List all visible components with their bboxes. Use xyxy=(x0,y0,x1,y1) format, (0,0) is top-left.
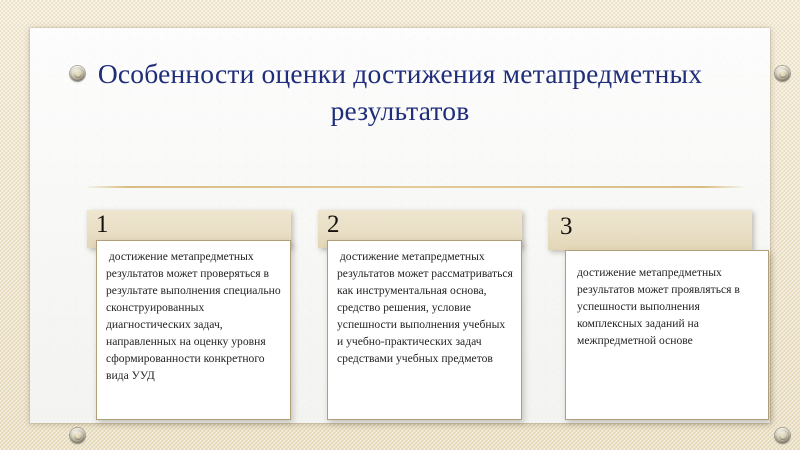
screw-icon-top-left xyxy=(70,66,85,81)
panel-3-text: достижение метапредметных результатов мо… xyxy=(566,251,768,355)
slide-panel: Особенности оценки достижения метапредме… xyxy=(30,28,770,423)
panel-2-card: достижение метапредметных результатов мо… xyxy=(327,240,522,420)
panel-2-text: достижение метапредметных результатов мо… xyxy=(328,241,521,373)
content-panel-2: 2 достижение метапредметных результатов … xyxy=(318,210,522,248)
page-title: Особенности оценки достижения метапредме… xyxy=(90,56,710,129)
panel-3-header: 3 xyxy=(548,210,752,250)
screw-icon-bottom-right xyxy=(775,428,790,443)
content-panel-3: 3 достижение метапредметных результатов … xyxy=(548,210,752,250)
panel-3-number: 3 xyxy=(560,214,573,239)
panel-1-card: достижение метапредметных результатов мо… xyxy=(96,240,291,420)
screw-icon-top-right xyxy=(775,66,790,81)
panel-2-number: 2 xyxy=(327,212,340,237)
slide-background: Особенности оценки достижения метапредме… xyxy=(0,0,800,450)
title-block: Особенности оценки достижения метапредме… xyxy=(90,56,710,129)
title-divider-rule xyxy=(88,186,743,188)
panel-1-text: достижение метапредметных результатов мо… xyxy=(97,241,290,390)
screw-icon-bottom-left xyxy=(70,428,85,443)
content-panel-1: 1 достижение метапредметных результатов … xyxy=(87,210,291,248)
panel-1-number: 1 xyxy=(96,212,109,237)
panel-3-card: достижение метапредметных результатов мо… xyxy=(565,250,769,420)
